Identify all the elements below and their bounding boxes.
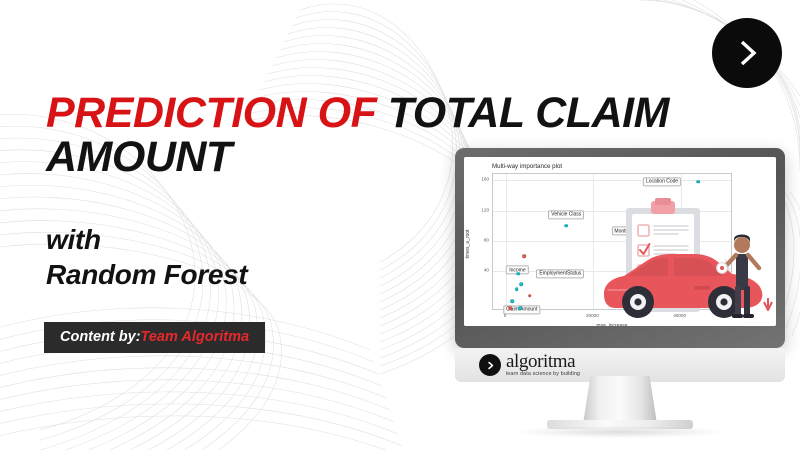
credit-team-name: Team Algoritma bbox=[141, 329, 250, 345]
brand-tagline: learn data science by building bbox=[506, 372, 580, 377]
credit-badge: Content by:Team Algoritma bbox=[44, 322, 265, 353]
chart-x-tick: 40000 bbox=[673, 313, 686, 318]
chart-point-label: Vehicle Class bbox=[548, 210, 584, 219]
chart-data-point bbox=[519, 283, 523, 287]
monitor-bezel: Multi-way importance plot times_a_root m… bbox=[455, 148, 785, 348]
chart-data-point bbox=[518, 306, 522, 310]
monitor-screen: Multi-way importance plot times_a_root m… bbox=[464, 157, 776, 326]
chart-y-tick: 80 bbox=[478, 237, 489, 242]
next-arrow-button[interactable] bbox=[712, 18, 782, 88]
chart-data-point bbox=[565, 224, 569, 228]
chart-data-point bbox=[696, 180, 700, 184]
slide-canvas: PREDICTION OF TOTAL CLAIM AMOUNT with Ra… bbox=[0, 0, 800, 450]
chart-data-point bbox=[528, 294, 532, 298]
chart-gridline-horizontal bbox=[493, 211, 731, 212]
chart-data-point bbox=[642, 216, 646, 220]
multiway-importance-plot: Multi-way importance plot times_a_root m… bbox=[464, 157, 776, 326]
chart-y-tick: 120 bbox=[478, 207, 489, 212]
chart-gridline-horizontal bbox=[493, 241, 731, 242]
chart-point-label: Monthly.Premium.Auto bbox=[611, 227, 667, 236]
chart-plot-area: Location CodeMonthly.Premium.AutoVehicle… bbox=[492, 173, 732, 310]
chart-data-point bbox=[523, 254, 527, 258]
chart-y-tick: 160 bbox=[478, 177, 489, 182]
subtitle: with Random Forest bbox=[46, 222, 247, 292]
chevron-right-icon bbox=[730, 36, 764, 70]
chart-x-axis-label: mse_increase bbox=[596, 323, 627, 326]
brand-text: algoritma learn data science by building bbox=[506, 352, 580, 377]
play-chevron-icon bbox=[479, 354, 501, 376]
chart-y-tick: 40 bbox=[478, 268, 489, 273]
subtitle-line-1: with bbox=[46, 224, 101, 255]
monitor-stand-shadow bbox=[513, 426, 727, 438]
chart-point-label: EmploymentStatus bbox=[536, 269, 584, 278]
monitor-mockup: Multi-way importance plot times_a_root m… bbox=[455, 148, 785, 378]
chart-gridline-horizontal bbox=[493, 271, 731, 272]
chevron-right-small-icon bbox=[485, 360, 496, 371]
chart-point-label: Location Code bbox=[643, 177, 681, 186]
chart-x-tick: 20000 bbox=[586, 313, 599, 318]
chart-data-point bbox=[517, 272, 521, 276]
chart-y-axis-label: times_a_root bbox=[465, 230, 471, 259]
chart-data-point bbox=[510, 299, 514, 303]
brand-name: algoritma bbox=[506, 352, 580, 371]
chart-title: Multi-way importance plot bbox=[492, 163, 562, 170]
monitor-stand-neck bbox=[583, 376, 657, 424]
chart-data-point bbox=[515, 287, 519, 291]
subtitle-line-2: Random Forest bbox=[46, 257, 247, 292]
credit-label: Content by: bbox=[60, 329, 141, 345]
chart-data-point bbox=[508, 306, 512, 310]
chart-x-tick: 0 bbox=[504, 313, 507, 318]
page-title-red: PREDICTION OF bbox=[46, 89, 388, 137]
